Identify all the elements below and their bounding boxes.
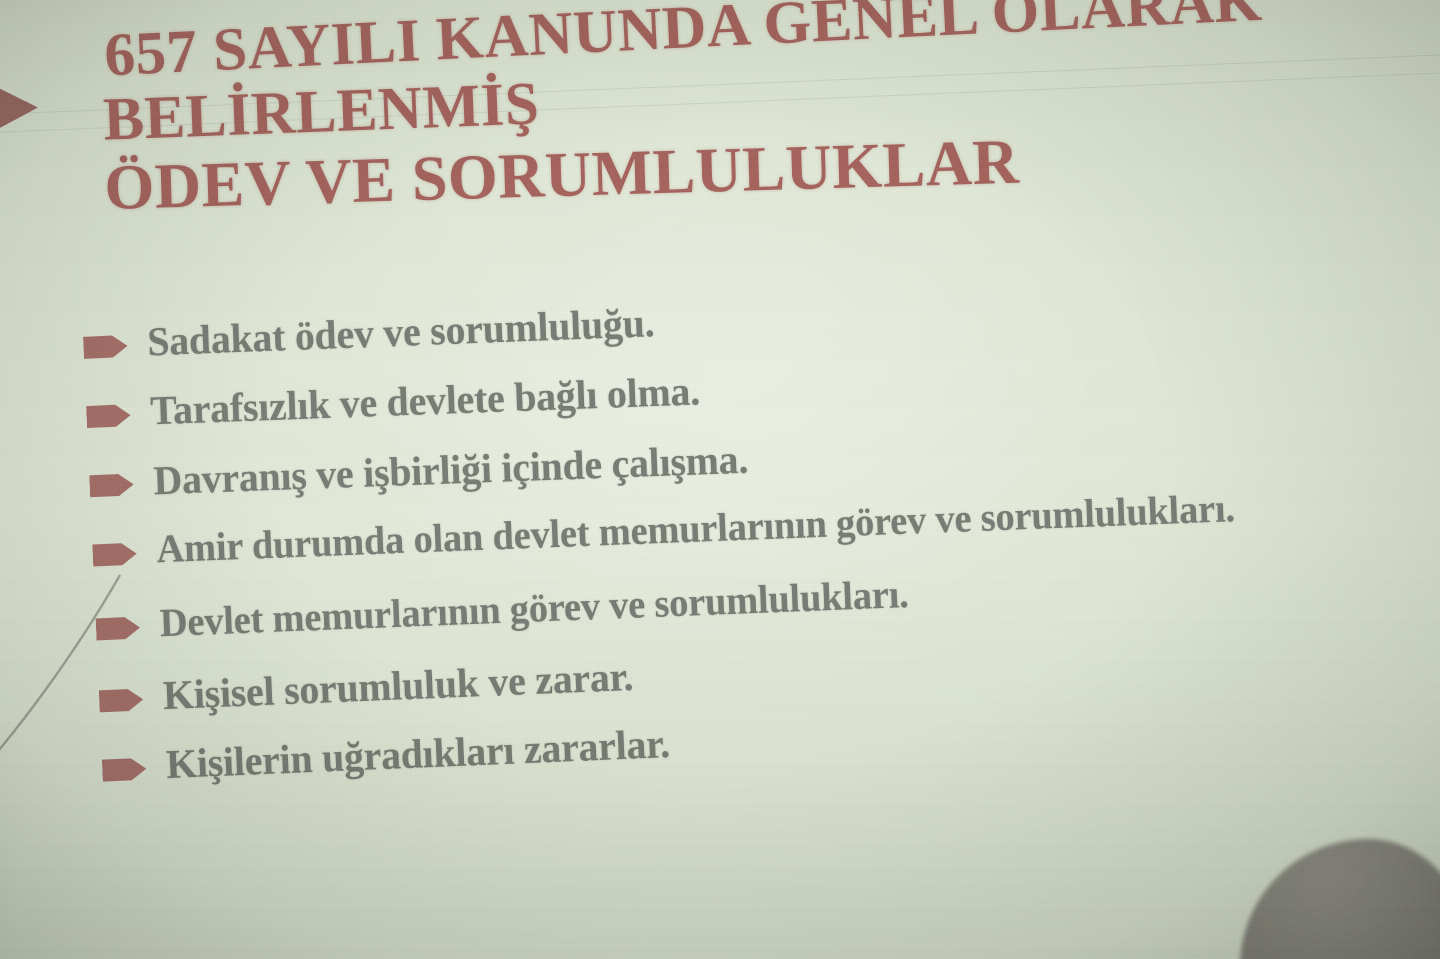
cable-line: [0, 575, 180, 905]
slide-bullet-list: Sadakat ödev ve sorumluluğu. Tarafsızlık…: [82, 259, 1433, 810]
list-item-label: Sadakat ödev ve sorumluluğu.: [146, 296, 655, 369]
slide-title: 657 SAYILI KANUNDA GENEL OLARAK BELİRLEN…: [103, 0, 1401, 235]
slide-content: 657 SAYILI KANUNDA GENEL OLARAK BELİRLEN…: [0, 0, 1440, 959]
projected-slide-photo: 657 SAYILI KANUNDA GENEL OLARAK BELİRLEN…: [0, 0, 1440, 959]
cable-path: [0, 575, 210, 915]
list-item-label: Tarafsızlık ve devlete bağlı olma.: [149, 365, 700, 438]
list-item-label: Kişisel sorumluluk ve zarar.: [162, 650, 634, 722]
arrow-pennant-icon: [89, 472, 134, 499]
list-item-label: Kişilerin uğradıkları zararlar.: [165, 717, 671, 791]
arrow-pennant-icon: [83, 333, 128, 360]
arrow-pennant-icon: [92, 541, 137, 568]
arrow-pennant-icon: [86, 403, 131, 430]
list-item-label: Devlet memurlarının görev ve sorumlulukl…: [159, 568, 910, 649]
list-item-label: Davranış ve işbirliği içinde çalışma.: [152, 432, 748, 507]
